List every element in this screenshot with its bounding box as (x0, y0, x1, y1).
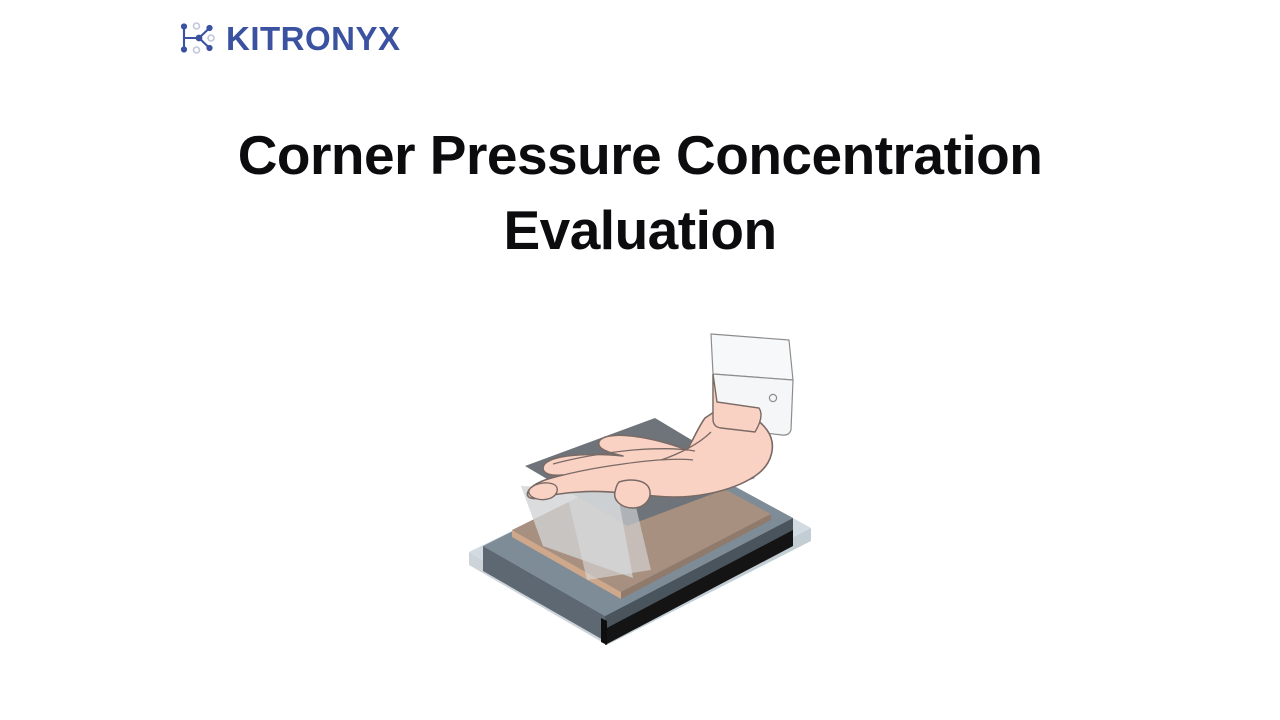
hand-pressing-pressure-sensor-pad-illustration (455, 318, 825, 658)
slide-canvas: KITRONYX Corner Pressure Concentration E… (0, 0, 1280, 720)
brand-logo: KITRONYX (178, 16, 401, 60)
kitronyx-node-graph-icon (178, 19, 216, 57)
illustration-container (455, 318, 825, 658)
page-title-line-2: Evaluation (190, 193, 1090, 268)
page-title: Corner Pressure Concentration Evaluation (190, 118, 1090, 268)
brand-wordmark: KITRONYX (226, 22, 401, 55)
page-title-line-1: Corner Pressure Concentration (190, 118, 1090, 193)
